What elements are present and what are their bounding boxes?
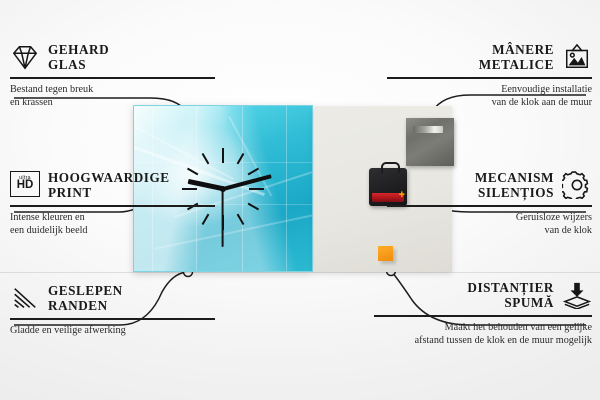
feature-description: Maakt het behouden van een gelijke afsta… (374, 321, 592, 347)
foam-spacer-block (378, 246, 393, 261)
clock-center-cap (220, 186, 226, 192)
feature-description: Gladde en veilige afwerking (10, 324, 215, 337)
feature-description: Intense kleuren en een duidelijk beeld (10, 211, 215, 237)
feature-title: DISTANȚIER SPUMĂ (467, 280, 554, 311)
feature-divider (387, 77, 592, 79)
feature-silent-mechanism: MECANISM SILENȚIOS Geruisloze wijzers va… (387, 168, 592, 237)
feature-description: Eenvoudige installatie van de klok aan d… (387, 83, 592, 109)
press-down-pad-icon (562, 281, 592, 309)
feature-title: GEHARD GLAS (48, 42, 109, 73)
feature-foam-spacer: DISTANȚIER SPUMĂ Maakt het behouden van … (374, 278, 592, 347)
picture-frame-hanger-icon (562, 43, 592, 71)
ultra-hd-icon-main-label: HD (17, 180, 34, 192)
feature-divider (374, 315, 592, 317)
feature-ground-edges: GESLEPEN RANDEN Gladde en veilige afwerk… (10, 281, 215, 337)
feature-divider (10, 77, 215, 79)
feature-high-quality-print: ultra HD HOOGWAARDIGE PRINT Intense kleu… (10, 168, 215, 237)
feature-tempered-glass: GEHARD GLAS Bestand tegen breuk en krass… (10, 40, 215, 109)
infographic-canvas: GEHARD GLAS Bestand tegen breuk en krass… (0, 0, 600, 400)
ultra-hd-icon: ultra HD (10, 171, 40, 199)
beveled-edges-icon (10, 284, 40, 312)
feature-metal-handles: MÂNERE METALICE Eenvoudige installatie v… (387, 40, 592, 109)
feature-divider (10, 318, 215, 320)
feature-title: GESLEPEN RANDEN (48, 283, 123, 314)
feature-title: MECANISM SILENȚIOS (475, 170, 554, 201)
feature-description: Bestand tegen breuk en krassen (10, 83, 215, 109)
feature-title: HOOGWAARDIGE PRINT (48, 170, 170, 201)
surface-line (0, 272, 600, 273)
feature-divider (10, 205, 215, 207)
gear-icon (562, 171, 592, 199)
clock-second-hand (222, 189, 224, 247)
metal-hanger-plate (406, 118, 454, 166)
feature-divider (387, 205, 592, 207)
feature-description: Geruisloze wijzers van de klok (387, 211, 592, 237)
feature-title: MÂNERE METALICE (479, 42, 554, 73)
diamond-icon (10, 43, 40, 71)
